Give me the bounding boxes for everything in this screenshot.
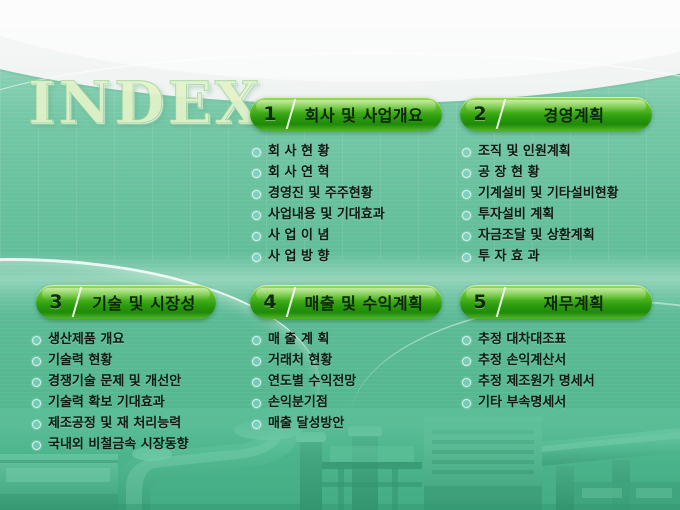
list-item-label: 기술력 현황 — [48, 351, 189, 370]
list-item[interactable]: 거래처 현황 — [252, 351, 356, 370]
list-item-label: 사 업 이 념 — [268, 226, 385, 245]
list-item-label: 기계설비 및 기타설비현황 — [478, 184, 619, 203]
section-number-4: 4 — [250, 291, 290, 313]
bullet-circle-icon — [32, 357, 41, 366]
list-item-label: 추정 제조원가 명세서 — [478, 372, 595, 391]
bullet-circle-icon — [252, 378, 261, 387]
bullet-circle-icon — [252, 169, 261, 178]
bullet-circle-icon — [252, 399, 261, 408]
list-item-label: 경영진 및 주주현황 — [268, 184, 385, 203]
list-item-label: 손익분기점 — [268, 393, 356, 412]
bullet-circle-icon — [462, 211, 471, 220]
presentation-slide: INDEX 1 회사 및 사업개요 회 사 현 황 회 사 연 혁 경영진 및 … — [0, 0, 680, 510]
list-item[interactable]: 연도별 수익전망 — [252, 372, 356, 391]
bullet-circle-icon — [32, 420, 41, 429]
list-item-label: 매출 달성방안 — [268, 414, 356, 433]
page-title: INDEX — [28, 74, 263, 132]
list-item-label: 자금조달 및 상환계획 — [478, 226, 619, 245]
bullet-circle-icon — [252, 190, 261, 199]
list-item[interactable]: 사업내용 및 기대효과 — [252, 205, 385, 224]
list-item[interactable]: 경쟁기술 문제 및 개선안 — [32, 372, 189, 391]
bullet-circle-icon — [462, 399, 471, 408]
list-item[interactable]: 추정 손익계산서 — [462, 351, 595, 370]
list-item[interactable]: 조직 및 인원계획 — [462, 142, 619, 161]
section-list-3: 생산제품 개요 기술력 현황 경쟁기술 문제 및 개선안 기술력 확보 기대효과… — [32, 330, 189, 456]
list-item-label: 회 사 연 혁 — [268, 163, 385, 182]
bullet-circle-icon — [462, 169, 471, 178]
bullet-circle-icon — [462, 190, 471, 199]
list-item-label: 조직 및 인원계획 — [478, 142, 619, 161]
list-item[interactable]: 생산제품 개요 — [32, 330, 189, 349]
list-item-label: 기타 부속명세서 — [478, 393, 595, 412]
list-item-label: 공 장 현 황 — [478, 163, 619, 182]
bullet-circle-icon — [252, 232, 261, 241]
section-number-2: 2 — [460, 103, 500, 125]
list-item[interactable]: 투 자 효 과 — [462, 247, 619, 266]
list-item-label: 경쟁기술 문제 및 개선안 — [48, 372, 189, 391]
bullet-circle-icon — [252, 253, 261, 262]
bullet-circle-icon — [462, 148, 471, 157]
list-item[interactable]: 국내외 비철금속 시장동향 — [32, 435, 189, 454]
list-item[interactable]: 매출 달성방안 — [252, 414, 356, 433]
bullet-circle-icon — [252, 211, 261, 220]
bullet-circle-icon — [32, 336, 41, 345]
section-list-5: 추정 대차대조표 추정 손익계산서 추정 제조원가 명세서 기타 부속명세서 — [462, 330, 595, 414]
list-item-label: 투자설비 계획 — [478, 205, 619, 224]
list-item-label: 매 출 계 획 — [268, 330, 356, 349]
bullet-circle-icon — [462, 378, 471, 387]
list-item-label: 국내외 비철금속 시장동향 — [48, 435, 189, 454]
list-item[interactable]: 매 출 계 획 — [252, 330, 356, 349]
list-item-label: 추정 손익계산서 — [478, 351, 595, 370]
list-item[interactable]: 추정 제조원가 명세서 — [462, 372, 595, 391]
list-item[interactable]: 회 사 연 혁 — [252, 163, 385, 182]
list-item[interactable]: 공 장 현 황 — [462, 163, 619, 182]
section-header-2[interactable]: 2 경영계획 — [460, 97, 652, 131]
section-list-1: 회 사 현 황 회 사 연 혁 경영진 및 주주현황 사업내용 및 기대효과 사… — [252, 142, 385, 268]
section-number-5: 5 — [460, 291, 500, 313]
list-item[interactable]: 제조공정 및 재 처리능력 — [32, 414, 189, 433]
section-header-3[interactable]: 3 기술 및 시장성 — [36, 285, 216, 319]
list-item-label: 사업내용 및 기대효과 — [268, 205, 385, 224]
list-item[interactable]: 기술력 확보 기대효과 — [32, 393, 189, 412]
section-header-1[interactable]: 1 회사 및 사업개요 — [250, 97, 442, 131]
list-item[interactable]: 경영진 및 주주현황 — [252, 184, 385, 203]
list-item[interactable]: 회 사 현 황 — [252, 142, 385, 161]
section-list-2: 조직 및 인원계획 공 장 현 황 기계설비 및 기타설비현황 투자설비 계획 … — [462, 142, 619, 268]
list-item-label: 기술력 확보 기대효과 — [48, 393, 189, 412]
section-label-3: 기술 및 시장성 — [78, 290, 216, 314]
list-item[interactable]: 손익분기점 — [252, 393, 356, 412]
list-item-label: 연도별 수익전망 — [268, 372, 356, 391]
bullet-circle-icon — [252, 336, 261, 345]
list-item[interactable]: 추정 대차대조표 — [462, 330, 595, 349]
bullet-circle-icon — [32, 399, 41, 408]
list-item[interactable]: 기계설비 및 기타설비현황 — [462, 184, 619, 203]
list-item-label: 회 사 현 황 — [268, 142, 385, 161]
bullet-circle-icon — [252, 357, 261, 366]
section-list-4: 매 출 계 획 거래처 현황 연도별 수익전망 손익분기점 매출 달성방안 — [252, 330, 356, 435]
bullet-circle-icon — [32, 378, 41, 387]
list-item[interactable]: 기술력 현황 — [32, 351, 189, 370]
section-label-1: 회사 및 사업개요 — [292, 102, 442, 126]
bullet-circle-icon — [462, 336, 471, 345]
bullet-circle-icon — [252, 420, 261, 429]
bullet-circle-icon — [32, 441, 41, 450]
section-label-5: 재무계획 — [502, 290, 652, 314]
section-label-4: 매출 및 수익계획 — [292, 290, 442, 314]
section-number-1: 1 — [250, 103, 290, 125]
bullet-circle-icon — [462, 253, 471, 262]
section-number-3: 3 — [36, 291, 76, 313]
list-item-label: 투 자 효 과 — [478, 247, 619, 266]
list-item[interactable]: 사 업 이 념 — [252, 226, 385, 245]
section-header-5[interactable]: 5 재무계획 — [460, 285, 652, 319]
list-item-label: 거래처 현황 — [268, 351, 356, 370]
list-item[interactable]: 사 업 방 향 — [252, 247, 385, 266]
bullet-circle-icon — [252, 148, 261, 157]
list-item-label: 사 업 방 향 — [268, 247, 385, 266]
bullet-circle-icon — [462, 357, 471, 366]
list-item[interactable]: 자금조달 및 상환계획 — [462, 226, 619, 245]
list-item-label: 생산제품 개요 — [48, 330, 189, 349]
list-item[interactable]: 투자설비 계획 — [462, 205, 619, 224]
list-item[interactable]: 기타 부속명세서 — [462, 393, 595, 412]
section-header-4[interactable]: 4 매출 및 수익계획 — [250, 285, 442, 319]
bullet-circle-icon — [462, 232, 471, 241]
list-item-label: 추정 대차대조표 — [478, 330, 595, 349]
list-item-label: 제조공정 및 재 처리능력 — [48, 414, 189, 433]
section-label-2: 경영계획 — [502, 102, 652, 126]
